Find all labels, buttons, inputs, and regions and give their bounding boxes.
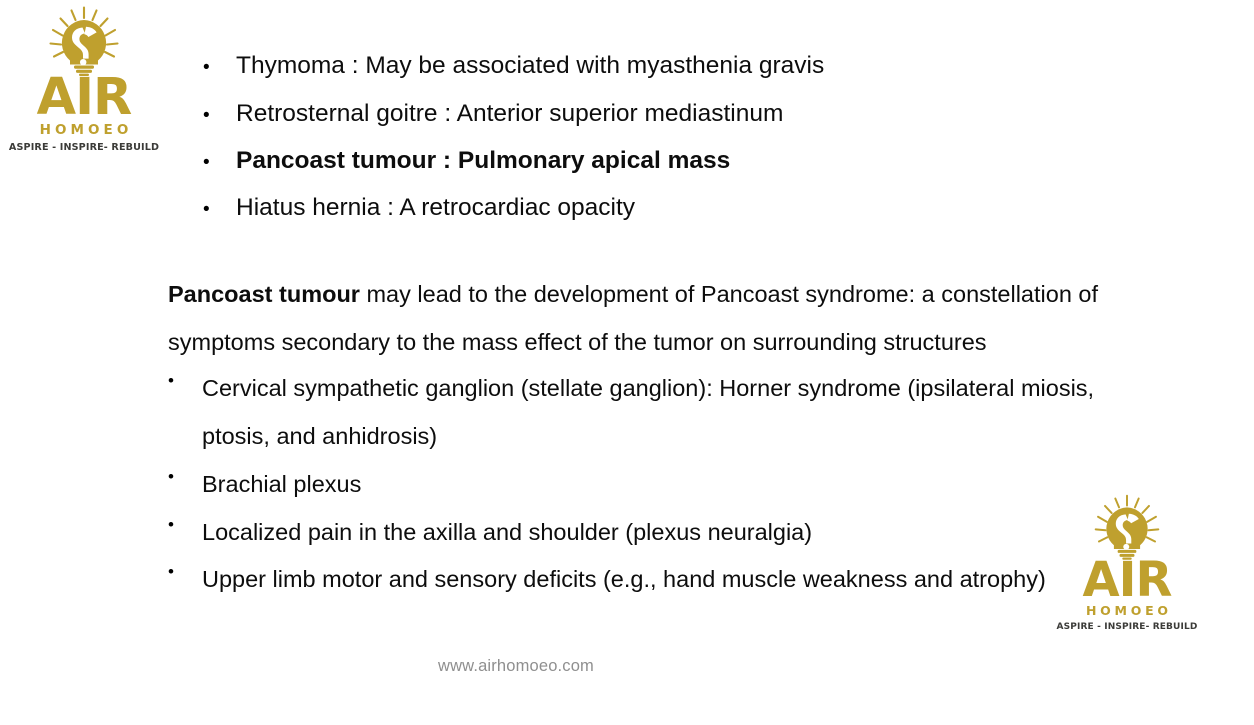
list-item-label: Upper limb motor and sensory deficits (e… — [202, 555, 1132, 603]
paragraph-bold-lead: Pancoast tumour — [168, 281, 360, 307]
logo-tagline: ASPIRE - INSPIRE- REBUILD — [1057, 623, 1198, 633]
list-item-label: Thymoma : May be associated with myasthe… — [236, 52, 824, 80]
list-item: • Cervical sympathetic ganglion (stellat… — [168, 364, 1138, 460]
list-item: • Brachial plexus — [168, 460, 1138, 508]
list-item: • Upper limb motor and sensory deficits … — [168, 555, 1138, 603]
lightbulb-question-mark-icon — [1084, 494, 1170, 560]
logo-bulb-bottom-right — [1067, 494, 1187, 560]
bullet-icon: • — [203, 58, 236, 77]
pancoast-paragraph: Pancoast tumour may lead to the developm… — [168, 270, 1128, 366]
list-item: • Retrosternal goitre : Anterior superio… — [203, 100, 783, 128]
list-item-label: Hiatus hernia : A retrocardiac opacity — [236, 194, 635, 222]
footer-website-url: www.airhomoeo.com — [438, 657, 594, 676]
list-item-label: Pancoast tumour : Pulmonary apical mass — [236, 147, 730, 175]
logo-subtitle: HOMOEO — [1082, 604, 1172, 618]
bullet-icon: • — [168, 364, 202, 398]
list-item-label: Retrosternal goitre : Anterior superior … — [236, 100, 783, 128]
list-item-label: Cervical sympathetic ganglion (stellate … — [202, 364, 1132, 460]
bullet-icon: • — [168, 555, 202, 589]
list-item: • Pancoast tumour : Pulmonary apical mas… — [203, 147, 730, 175]
list-item-label: Brachial plexus — [202, 460, 1132, 508]
bullet-icon: • — [203, 106, 236, 125]
list-item: • Localized pain in the axilla and shoul… — [168, 508, 1138, 556]
bullet-icon: • — [203, 153, 236, 172]
slide-content: • Thymoma : May be associated with myast… — [0, 0, 1254, 725]
slide-canvas: AIR HOMOEO ASPIRE - INSPIRE- REBUILD • T… — [0, 0, 1254, 725]
bullet-icon: • — [168, 460, 202, 494]
bullet-icon: • — [168, 508, 202, 542]
list-item-label: Localized pain in the axilla and shoulde… — [202, 508, 1132, 556]
list-item: • Hiatus hernia : A retrocardiac opacity — [203, 194, 635, 222]
list-item: • Thymoma : May be associated with myast… — [203, 52, 824, 80]
logo-wordmark: AIR — [1082, 561, 1171, 600]
logo-bottom-right: AIR HOMOEO ASPIRE - INSPIRE- REBUILD — [1067, 494, 1187, 633]
bullet-icon: • — [203, 200, 236, 219]
